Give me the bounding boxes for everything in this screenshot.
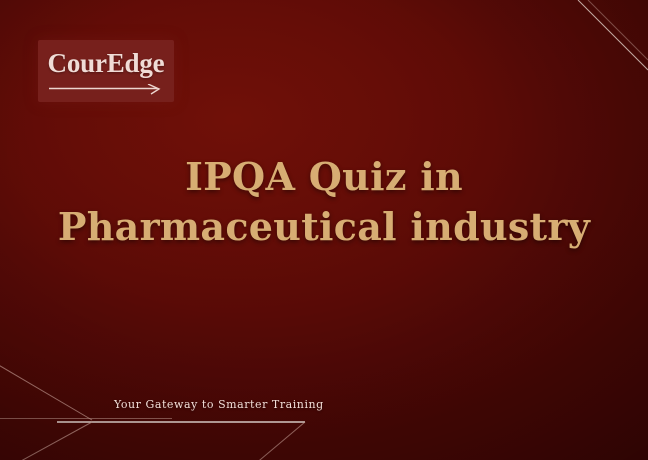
- title-line-1: IPQA Quiz in: [0, 152, 648, 202]
- title-line-2: Pharmaceutical industry: [0, 202, 648, 252]
- brand-logo[interactable]: CourEdge: [38, 40, 174, 102]
- top-right-diagonal-lines: [578, 0, 648, 70]
- logo-wordmark: CourEdge: [48, 50, 165, 77]
- arrow-underline-icon: [47, 84, 165, 95]
- slide-title: IPQA Quiz in Pharmaceutical industry: [0, 152, 648, 252]
- tagline: Your Gateway to Smarter Training: [114, 398, 324, 411]
- title-slide: CourEdge IPQA Quiz in Pharmaceutical ind…: [0, 0, 648, 460]
